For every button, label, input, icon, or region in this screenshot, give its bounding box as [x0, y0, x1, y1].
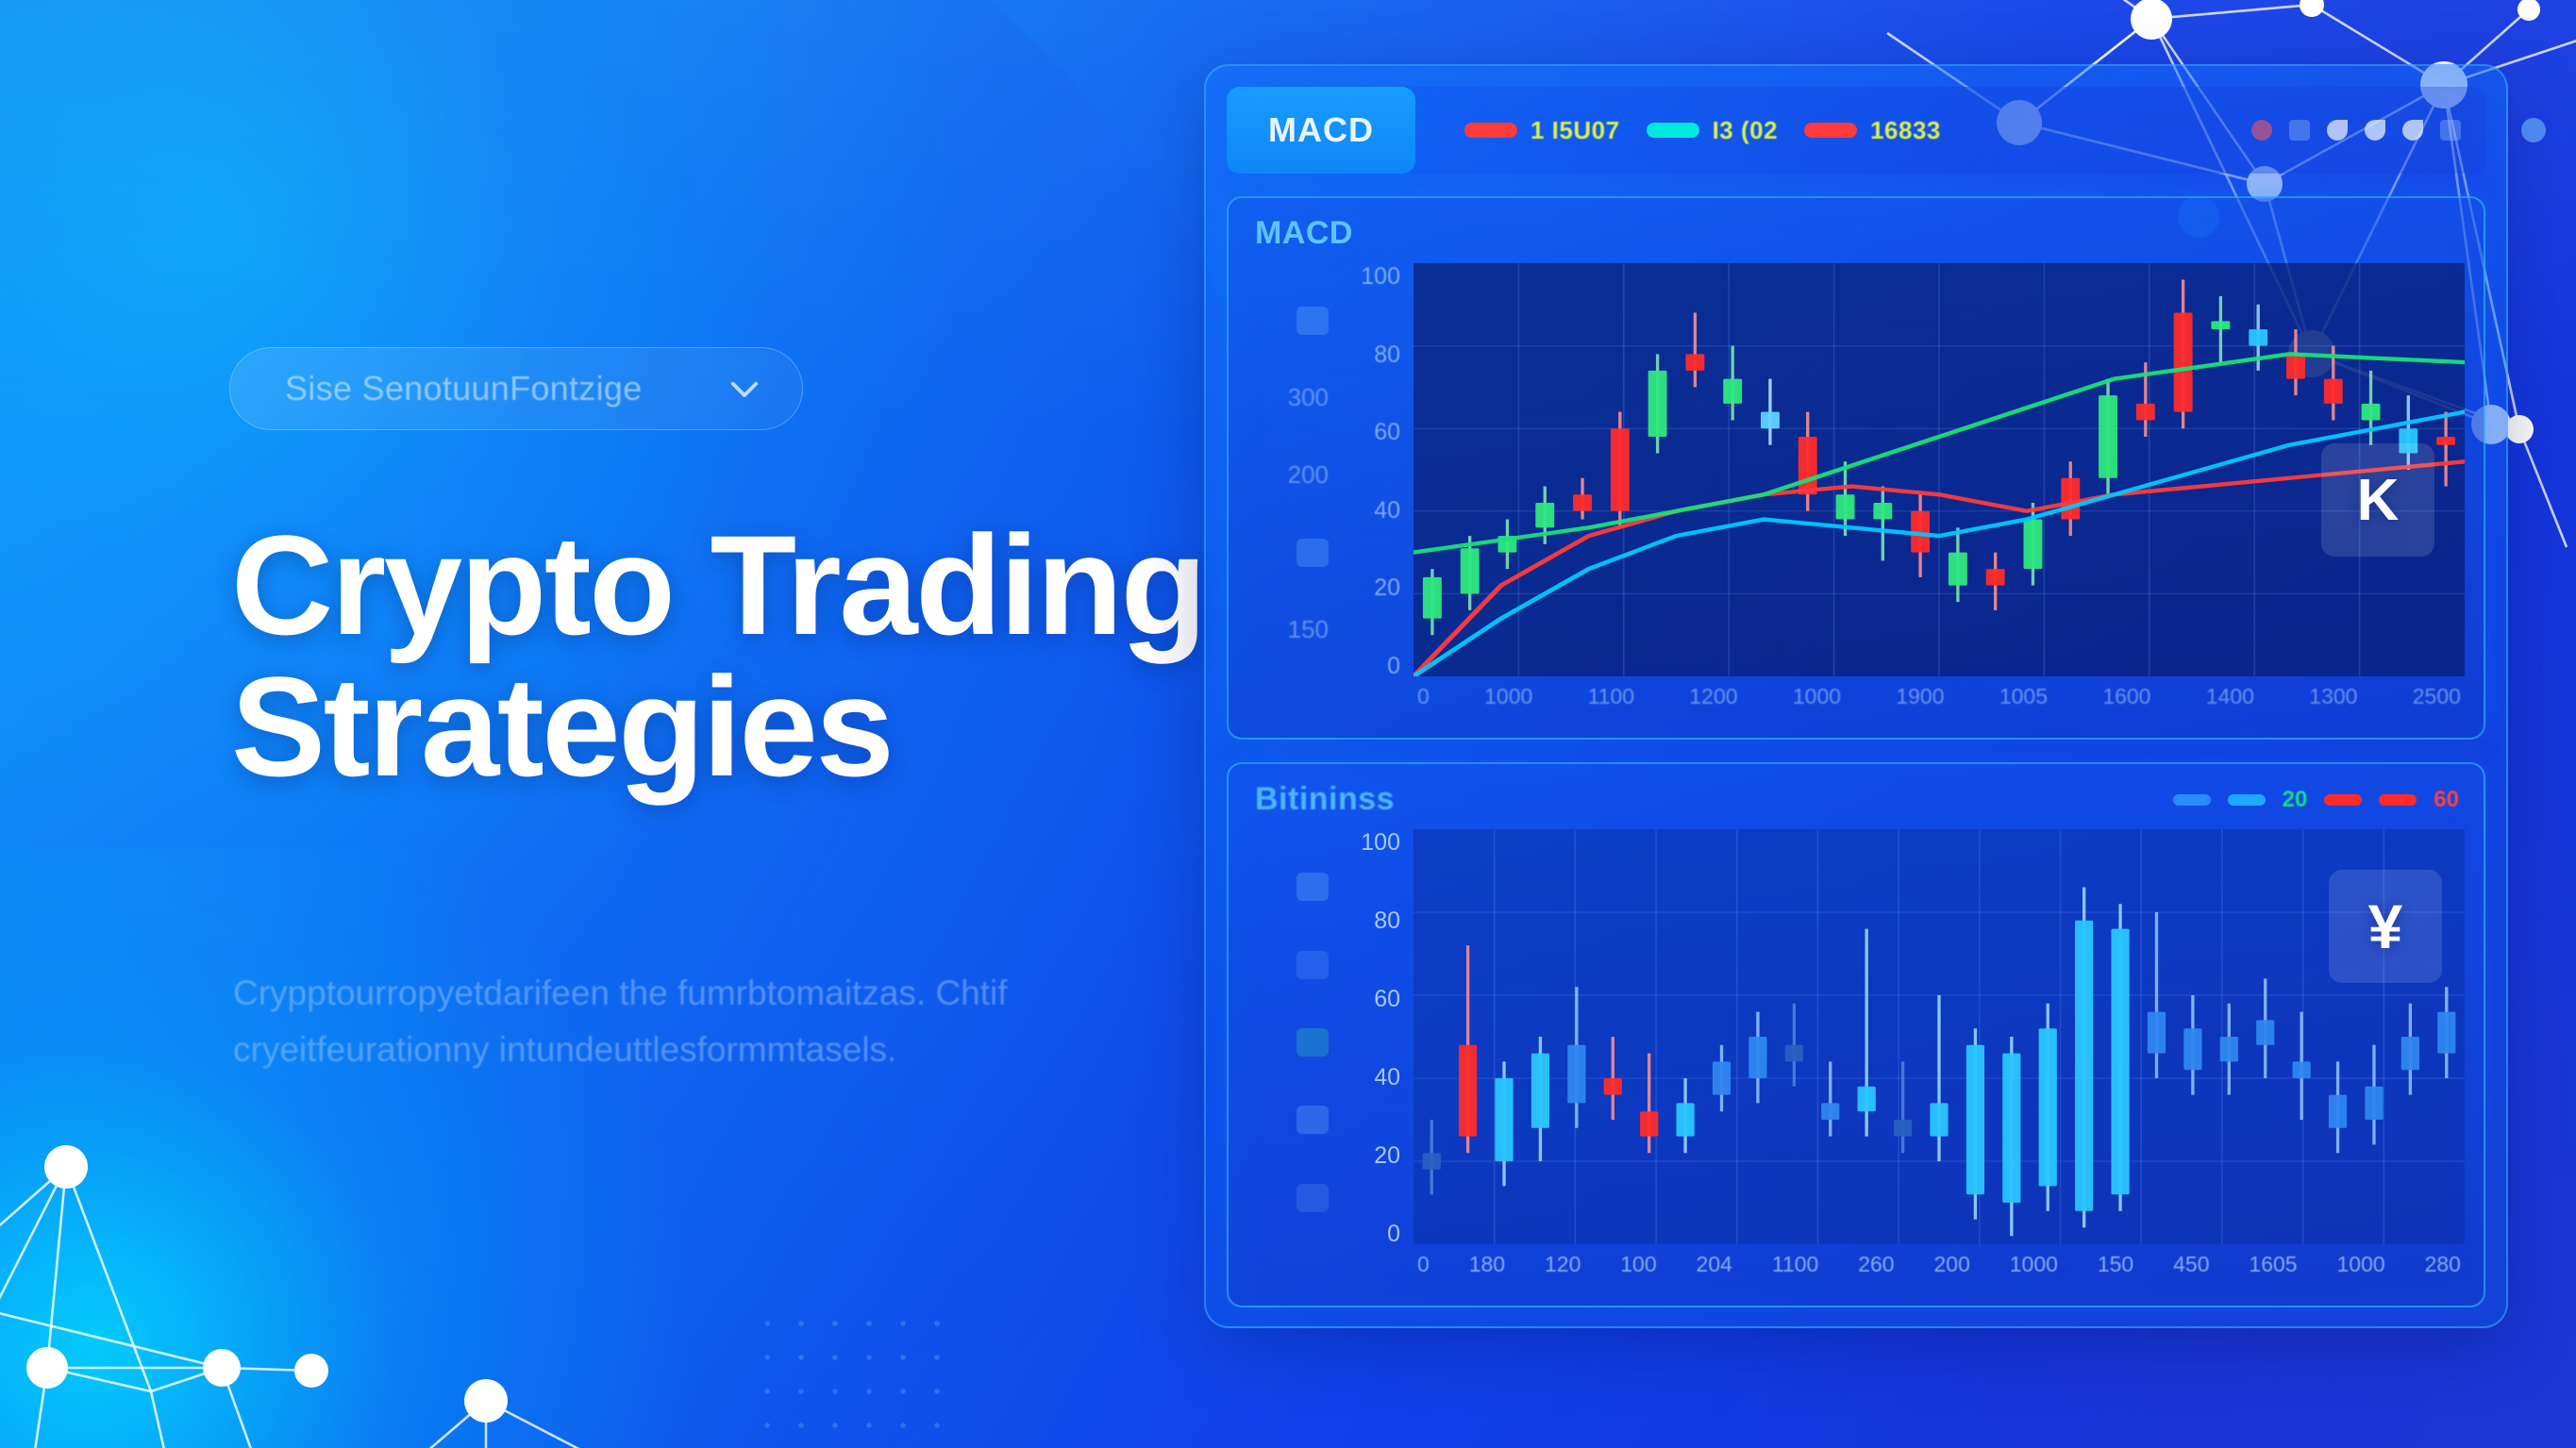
y-tick: 100 [1361, 829, 1400, 857]
y-tick: 0 [1387, 653, 1400, 680]
status-dot-icon [2521, 118, 2546, 142]
pac-left-icon[interactable] [2327, 120, 2348, 141]
panel-sidebar: 300 200 150 [1244, 258, 1342, 714]
x-tick: 1000 [1484, 684, 1532, 709]
pac-right-icon[interactable] [2365, 120, 2385, 141]
x-tick: 0 [1417, 684, 1430, 709]
x-tick: 1200 [1689, 684, 1737, 709]
currency-badge-k: K [2321, 443, 2434, 557]
badge-yen-label: ¥ [2368, 890, 2403, 962]
chevron-down-icon [725, 369, 764, 408]
x-tick: 120 [1545, 1252, 1581, 1277]
panel-legend-bitcoin: 20 60 [2173, 787, 2459, 813]
x-tick: 1900 [1896, 684, 1944, 709]
plot-area-bitcoin[interactable]: 0 180 120 100 204 1100 260 200 1000 150 … [1413, 824, 2465, 1282]
y-tick: 80 [1374, 907, 1400, 935]
x-tick: 1000 [2336, 1252, 2384, 1277]
tab-macd-label: MACD [1268, 110, 1374, 150]
panel-title-macd: MACD [1255, 215, 2465, 252]
chart-panel-bitcoin: Bitininss 20 60 100 80 60 40 20 [1227, 762, 2485, 1307]
x-tick: 1005 [1999, 684, 2048, 709]
x-tick: 204 [1697, 1252, 1732, 1277]
x-tick: 1300 [2309, 684, 2357, 709]
legend-value: 1 I5U07 [1531, 116, 1620, 145]
candlestick-svg-bitcoin [1413, 829, 2465, 1244]
y-tick: 40 [1374, 1064, 1400, 1091]
sidebar-value: 150 [1288, 615, 1329, 644]
legend-swatch-icon [2324, 794, 2362, 806]
legend-swatch-icon [1647, 123, 1699, 138]
legend-swatch-icon [1464, 123, 1517, 138]
pac-left2-icon[interactable] [2402, 120, 2423, 141]
y-tick: 40 [1374, 497, 1400, 524]
sidebar-marker-icon [1296, 1028, 1329, 1057]
legend-value: 16833 [1870, 116, 1941, 145]
x-tick: 1000 [1793, 684, 1841, 709]
category-dropdown[interactable]: Sise SenotuunFontzige [229, 347, 803, 430]
badge-k-label: K [2357, 467, 2400, 534]
legend-value: I3 (02 [1713, 116, 1779, 145]
plot-area-macd[interactable]: 0 1000 1100 1200 1000 1900 1005 1600 140… [1413, 258, 2465, 714]
sidebar-marker-icon [1296, 1106, 1329, 1134]
x-tick: 450 [2173, 1252, 2209, 1277]
sidebar-value: 300 [1288, 383, 1329, 412]
legend-swatch-icon [1804, 123, 1857, 138]
x-axis-bitcoin: 0 180 120 100 204 1100 260 200 1000 150 … [1413, 1246, 2465, 1282]
x-tick: 180 [1469, 1252, 1505, 1277]
y-tick: 100 [1361, 263, 1400, 291]
x-tick: 100 [1620, 1252, 1656, 1277]
y-axis-macd: 100 80 60 40 20 0 [1342, 258, 1413, 714]
y-tick: 60 [1374, 419, 1400, 446]
toolbar-legend: 1 I5U07 I3 (02 16833 [1415, 87, 2251, 174]
subtitle-line-1: Crypptourropyetdarifeen the fumrbtomaitz… [233, 974, 1008, 1012]
x-tick: 1100 [1588, 684, 1634, 709]
x-tick: 2500 [2413, 684, 2461, 709]
currency-badge-yen: ¥ [2329, 870, 2442, 983]
sidebar-value: 200 [1288, 460, 1329, 490]
legend-item: 16833 [1804, 116, 1941, 145]
x-tick: 1600 [2102, 684, 2150, 709]
legend-swatch-icon [2379, 794, 2417, 806]
legend-value: 60 [2434, 787, 2459, 813]
y-tick: 80 [1374, 341, 1400, 369]
x-tick: 1100 [1772, 1252, 1818, 1277]
sidebar-marker-icon [1296, 1184, 1329, 1212]
subtitle: Crypptourropyetdarifeen the fumrbtomaitz… [233, 965, 1063, 1078]
x-tick: 280 [2425, 1252, 2461, 1277]
y-tick: 20 [1374, 1142, 1400, 1170]
x-tick: 1400 [2206, 684, 2254, 709]
legend-item: I3 (02 [1647, 116, 1779, 145]
sidebar-marker-icon [1296, 539, 1329, 567]
subtitle-line-2: cryeitfeurationny intundeuttlesformmtase… [233, 1030, 896, 1069]
y-tick: 20 [1374, 574, 1400, 602]
x-tick: 200 [1933, 1252, 1969, 1277]
y-tick: 0 [1387, 1221, 1400, 1248]
panel-sidebar [1244, 824, 1342, 1282]
sidebar-marker-icon [1296, 951, 1329, 979]
legend-value: 20 [2283, 787, 2308, 813]
y-axis-bitcoin: 100 80 60 40 20 0 [1342, 824, 1413, 1282]
legend-swatch-icon [2173, 794, 2211, 806]
legend-swatch-icon [2228, 794, 2266, 806]
square-icon[interactable] [2440, 120, 2461, 141]
dropdown-label: Sise SenotuunFontzige [285, 369, 643, 408]
hero-section: Sise SenotuunFontzige Crypto Trading Str… [0, 0, 1227, 1448]
x-tick: 260 [1858, 1252, 1894, 1277]
x-tick: 1605 [2249, 1252, 2297, 1277]
legend-item: 1 I5U07 [1464, 116, 1620, 145]
trading-dashboard: MACD 1 I5U07 I3 (02 16833 [1204, 64, 2508, 1328]
x-tick: 0 [1417, 1252, 1430, 1277]
headline-line-1: Crypto Trading [231, 506, 1205, 664]
x-tick: 150 [2098, 1252, 2133, 1277]
sidebar-marker-icon [1296, 307, 1329, 335]
toolbar-icon-group [2251, 87, 2485, 174]
candlestick-svg-macd [1413, 263, 2465, 676]
x-tick: 1000 [2010, 1252, 2058, 1277]
tab-macd[interactable]: MACD [1227, 87, 1415, 174]
dashboard-toolbar: MACD 1 I5U07 I3 (02 16833 [1227, 87, 2485, 174]
y-tick: 60 [1374, 986, 1400, 1013]
record-dot-icon[interactable] [2251, 120, 2272, 141]
chart-panel-macd: MACD 300 200 150 100 80 60 40 20 0 [1227, 196, 2485, 740]
sidebar-marker-icon [1296, 873, 1329, 901]
stop-square-icon[interactable] [2289, 120, 2310, 141]
x-axis-macd: 0 1000 1100 1200 1000 1900 1005 1600 140… [1413, 678, 2465, 714]
